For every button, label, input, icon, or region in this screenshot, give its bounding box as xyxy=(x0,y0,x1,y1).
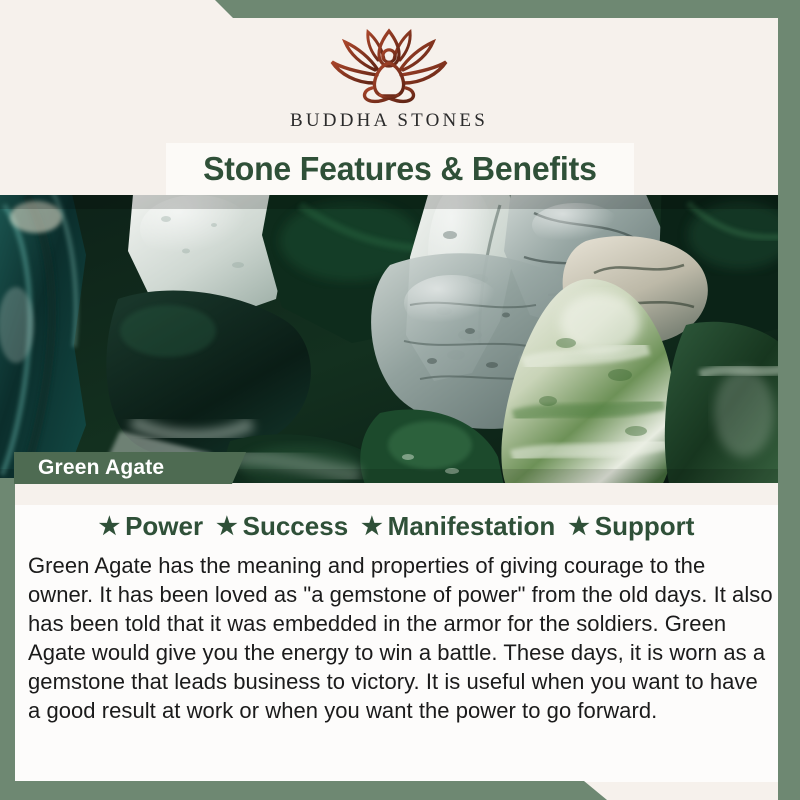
benefit-item-manifestation: ★ Manifestation xyxy=(361,511,555,542)
sage-left-strip xyxy=(0,478,15,800)
benefit-label: Success xyxy=(243,511,349,542)
title-plate: Stone Features & Benefits xyxy=(166,143,634,195)
content-top-divider xyxy=(15,483,778,505)
lotus-meditation-icon xyxy=(314,26,464,106)
benefit-item-power: ★ Power xyxy=(99,511,204,542)
benefit-item-success: ★ Success xyxy=(216,511,348,542)
benefit-label: Support xyxy=(595,511,695,542)
star-icon: ★ xyxy=(216,515,238,539)
stone-name-banner: Green Agate xyxy=(14,452,246,484)
brand-name: BUDDHA STONES xyxy=(290,110,488,132)
sage-right-strip xyxy=(778,0,800,800)
hero-image xyxy=(0,195,778,483)
benefit-item-support: ★ Support xyxy=(568,511,694,542)
star-icon: ★ xyxy=(99,515,121,539)
benefit-label: Manifestation xyxy=(388,511,556,542)
stone-name: Green Agate xyxy=(38,456,164,480)
star-icon: ★ xyxy=(361,515,383,539)
sage-top-band xyxy=(0,0,800,18)
page-title: Stone Features & Benefits xyxy=(203,150,597,188)
star-icon: ★ xyxy=(568,515,590,539)
infographic-card: BUDDHA STONES Stone Features & Benefits xyxy=(0,0,800,800)
stone-description: Green Agate has the meaning and properti… xyxy=(28,551,776,725)
benefits-row: ★ Power ★ Success ★ Manifestation ★ Supp… xyxy=(15,505,778,542)
logo-lockup: BUDDHA STONES xyxy=(290,26,488,132)
sage-bottom-band xyxy=(0,781,800,800)
stone-details-panel: ★ Power ★ Success ★ Manifestation ★ Supp… xyxy=(15,483,778,782)
benefit-label: Power xyxy=(125,511,203,542)
